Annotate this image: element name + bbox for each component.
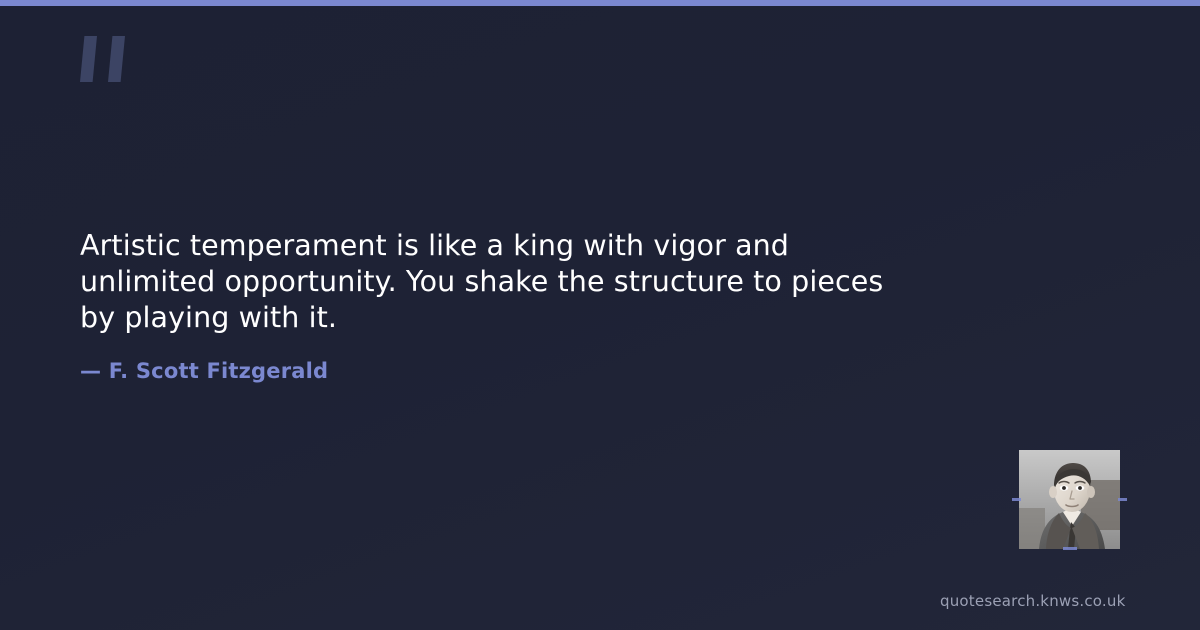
open-quote-icon xyxy=(80,36,134,82)
quote-block: Artistic temperament is like a king with… xyxy=(80,228,1020,336)
author-portrait xyxy=(1019,450,1120,549)
top-accent-bar xyxy=(0,0,1200,6)
quote-attribution: — F. Scott Fitzgerald xyxy=(80,357,328,385)
site-watermark: quotesearch.knws.co.uk xyxy=(940,591,1125,611)
open-quote-icon-bar-2 xyxy=(108,36,125,82)
quote-text: Artistic temperament is like a king with… xyxy=(80,228,1020,336)
portrait-tick-bottom xyxy=(1063,547,1077,550)
portrait-tick-right xyxy=(1118,498,1127,501)
author-portrait-image xyxy=(1019,450,1120,549)
open-quote-icon-bar-1 xyxy=(80,36,97,82)
quote-card: Artistic temperament is like a king with… xyxy=(0,0,1200,630)
portrait-tick-left xyxy=(1012,498,1021,501)
